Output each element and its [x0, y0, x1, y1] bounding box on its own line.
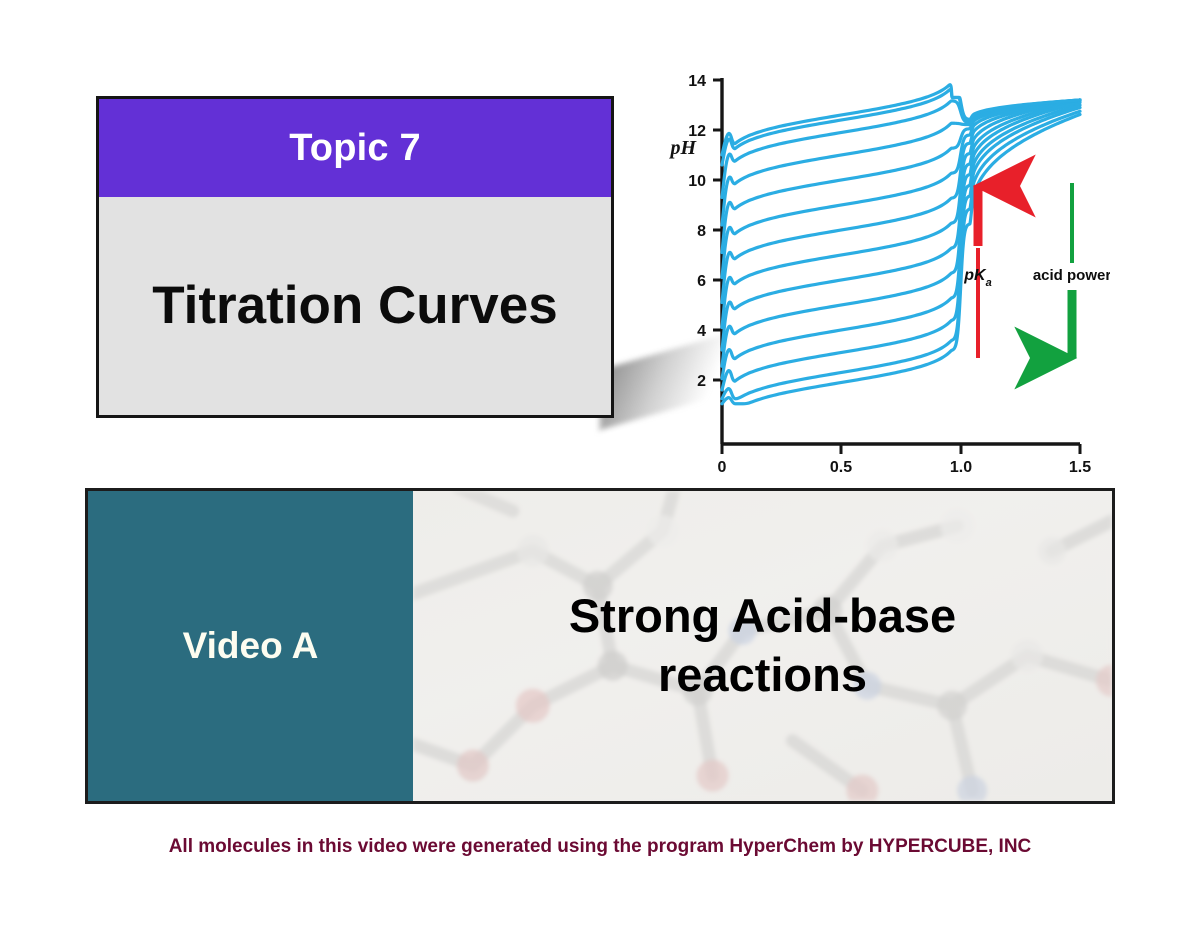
footer-credit: All molecules in this video were generat… [0, 836, 1200, 858]
video-label-panel: Video A [88, 491, 413, 801]
video-title-line-2: reactions [462, 646, 1063, 705]
y-tick-labels: 14 12 10 8 6 4 2 [688, 73, 706, 390]
title-card-body: Titration Curves [99, 197, 611, 415]
video-title-line-1: Strong Acid-base [462, 587, 1063, 646]
x-tick-label: 1.0 [950, 459, 972, 476]
x-tick-label: 1.5 [1069, 459, 1091, 476]
y-tick-label: 4 [697, 323, 706, 340]
video-thumbnail-panel[interactable]: Strong Acid-base reactions [413, 491, 1112, 801]
acid-power-annotation: acid power [1033, 183, 1110, 358]
y-tick-label: 14 [688, 73, 706, 90]
video-title: Strong Acid-base reactions [462, 587, 1063, 705]
titration-curve [722, 103, 1080, 367]
x-tick-label: 0.5 [830, 459, 852, 476]
topic-label: Topic 7 [289, 127, 421, 170]
y-axis-title: pH [668, 137, 697, 159]
y-tick-label: 2 [697, 373, 706, 390]
x-tick-label: 0 [718, 459, 727, 476]
titration-curve-series [722, 85, 1080, 404]
titration-curve [722, 100, 1080, 303]
y-tick-label: 6 [697, 273, 706, 290]
titration-chart-svg: 14 12 10 8 6 4 2 0 0.5 1.0 1.5 pH pKa [660, 58, 1110, 478]
video-label: Video A [183, 625, 319, 667]
title-card-header: Topic 7 [99, 99, 611, 197]
y-tick-label: 8 [697, 223, 706, 240]
x-tick-labels: 0 0.5 1.0 1.5 [718, 459, 1092, 476]
y-tick-label: 10 [688, 173, 706, 190]
title-card: Topic 7 Titration Curves [96, 96, 614, 418]
title-card-title: Titration Curves [152, 277, 557, 335]
titration-curve [722, 108, 1080, 391]
video-banner[interactable]: Video A [85, 488, 1115, 804]
titration-curves-chart: 14 12 10 8 6 4 2 0 0.5 1.0 1.5 pH pKa [660, 58, 1110, 478]
titration-curve [722, 111, 1080, 399]
acid-power-annotation-label: acid power [1033, 267, 1110, 284]
